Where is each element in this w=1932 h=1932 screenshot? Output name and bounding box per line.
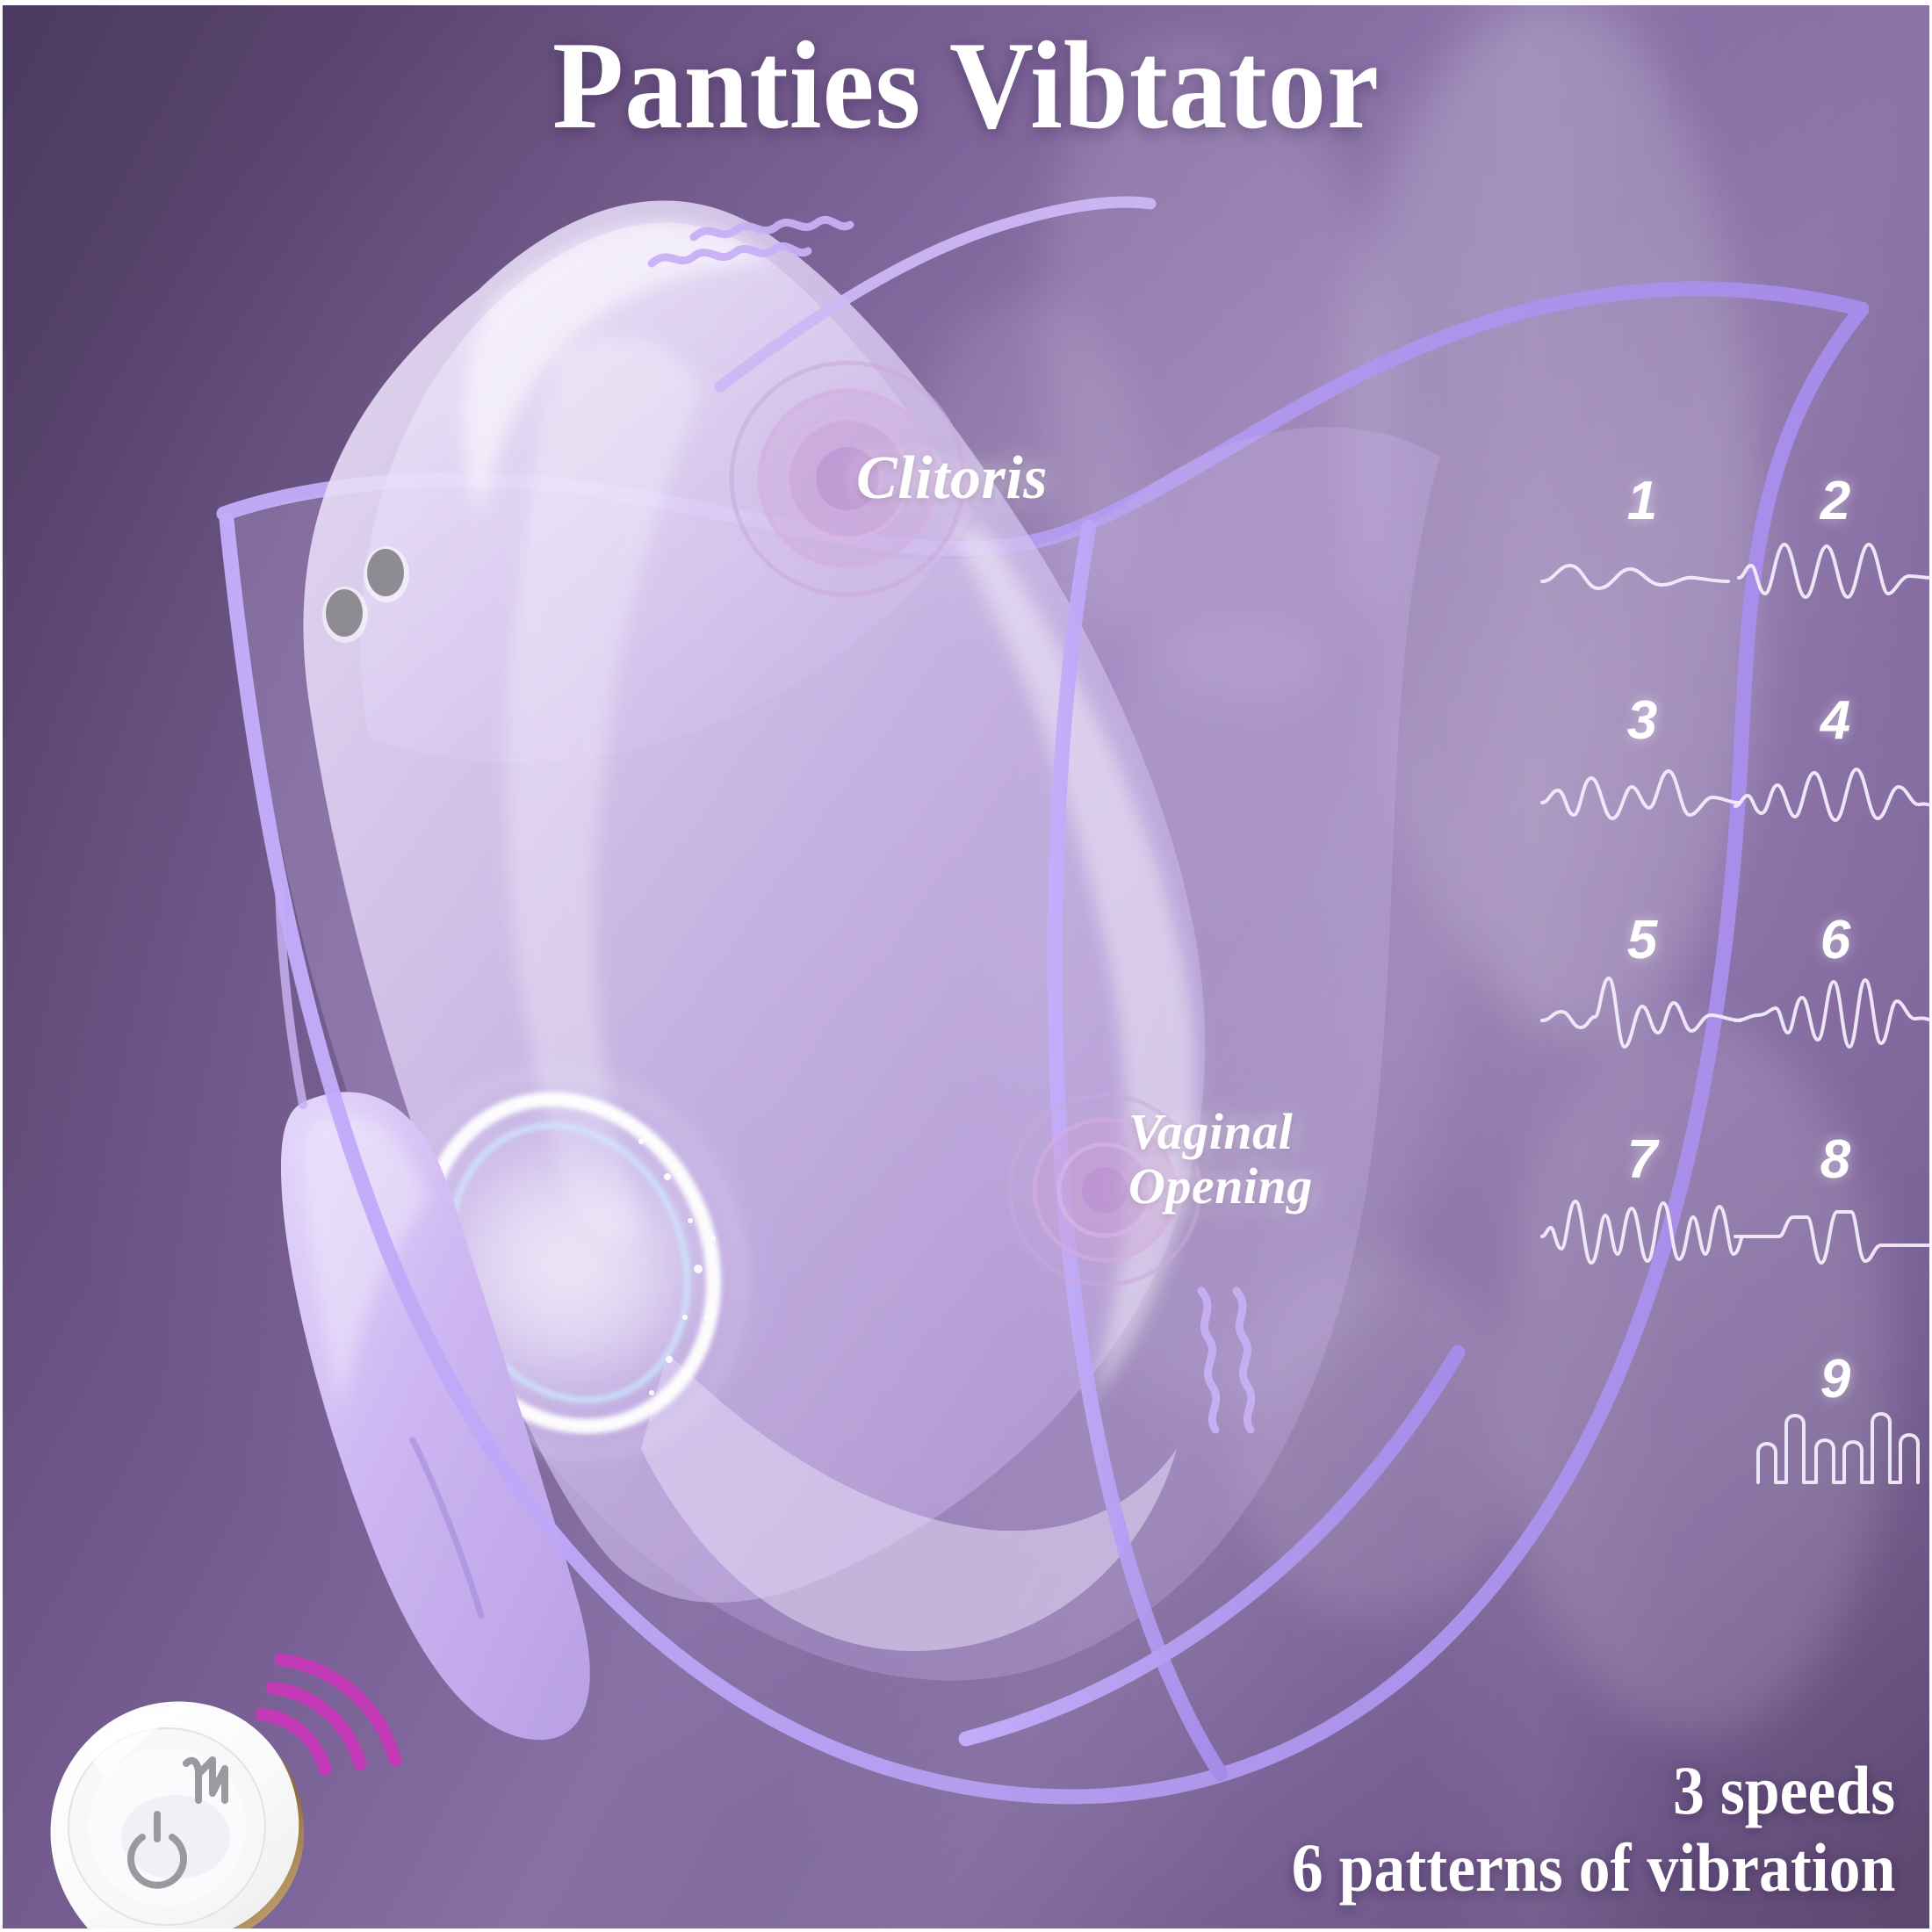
footer-speeds: 3 speeds — [1673, 1751, 1895, 1830]
page-title: Panties Vibtator — [68, 23, 1864, 148]
pattern-wave-7 — [1540, 1186, 1744, 1273]
footer-patterns: 6 patterns of vibration — [1291, 1828, 1895, 1907]
pattern-cell-5[interactable]: 5 — [1554, 913, 1730, 1054]
pattern-wave-4 — [1734, 746, 1932, 834]
callout-label-vaginal-line2: Opening — [1128, 1159, 1313, 1214]
pattern-cell-7[interactable]: 7 — [1554, 1133, 1730, 1273]
pattern-number-4: 4 — [1748, 694, 1923, 748]
pattern-cell-1[interactable]: 1 — [1554, 474, 1730, 615]
pattern-cell-2[interactable]: 2 — [1748, 474, 1923, 615]
pattern-wave-2 — [1734, 527, 1932, 615]
pattern-wave-8 — [1734, 1186, 1932, 1273]
pattern-wave-6 — [1734, 966, 1932, 1054]
pattern-number-1: 1 — [1554, 474, 1730, 529]
pattern-wave-3 — [1540, 746, 1744, 834]
signal-arcs-icon — [262, 1660, 395, 1769]
callout-label-vaginal-opening: Vaginal Opening — [1128, 1105, 1313, 1214]
pattern-number-3: 3 — [1554, 694, 1730, 748]
pattern-number-5: 5 — [1554, 913, 1730, 968]
pattern-cell-4[interactable]: 4 — [1748, 694, 1923, 834]
pattern-number-6: 6 — [1748, 913, 1923, 968]
pattern-number-7: 7 — [1554, 1133, 1730, 1187]
vibration-pattern-grid: 1 2 3 4 — [1554, 474, 1923, 1317]
infographic-canvas: Panties Vibtator Clitoris Vaginal Openin… — [0, 0, 1932, 1932]
callout-label-clitoris: Clitoris — [856, 443, 1048, 514]
remote-control-art — [35, 1651, 413, 1932]
pattern-cell-6[interactable]: 6 — [1748, 913, 1923, 1054]
pattern-number-9: 9 — [1748, 1352, 1923, 1407]
pattern-number-8: 8 — [1748, 1133, 1923, 1187]
pattern-wave-9 — [1734, 1405, 1932, 1493]
pattern-wave-5 — [1540, 966, 1744, 1054]
pattern-number-2: 2 — [1748, 474, 1923, 529]
pattern-cell-3[interactable]: 3 — [1554, 694, 1730, 834]
pattern-wave-1 — [1540, 527, 1744, 615]
remote-control[interactable] — [35, 1651, 413, 1932]
callout-label-vaginal-line1: Vaginal — [1128, 1105, 1313, 1159]
pattern-cell-9[interactable]: 9 — [1748, 1352, 1923, 1493]
pattern-cell-8[interactable]: 8 — [1748, 1133, 1923, 1273]
